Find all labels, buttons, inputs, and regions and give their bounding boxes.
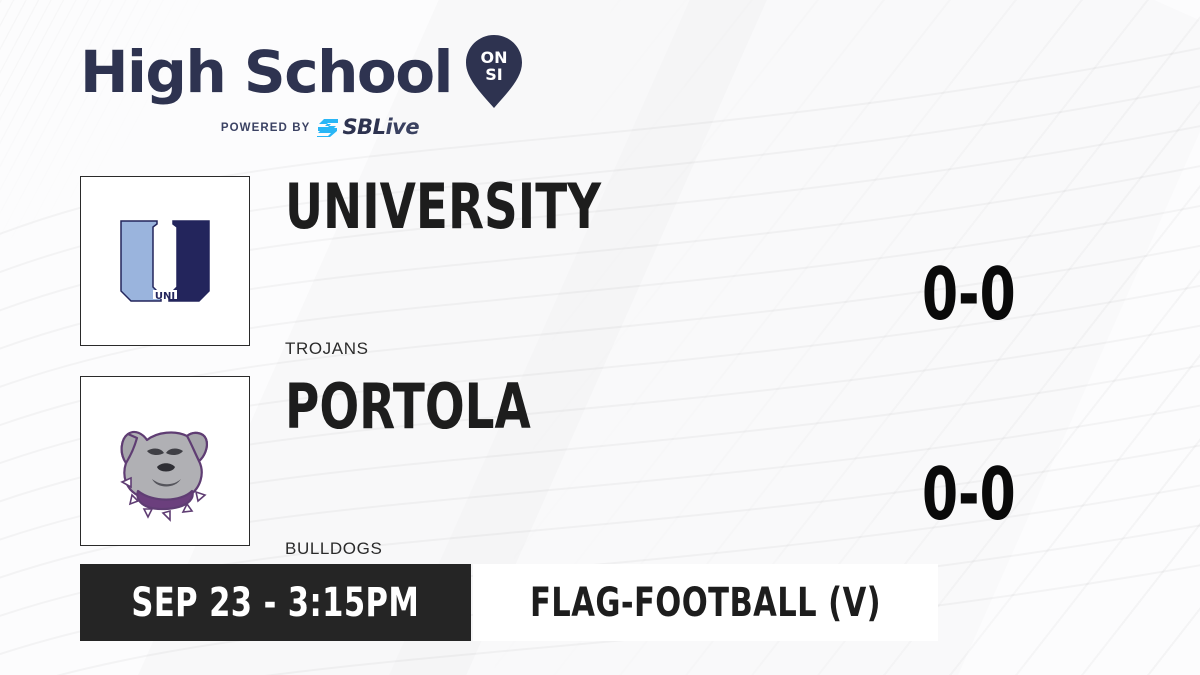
game-datetime-panel: SEP 23 - 3:15PM <box>80 564 471 641</box>
powered-by-row: POWERED BY SBLive <box>80 117 524 138</box>
game-sport: FLAG-FOOTBALL (V) <box>530 583 881 623</box>
team-mascot-trojans: TROJANS <box>285 339 369 359</box>
team-name-university: UNIVERSITY <box>285 176 601 238</box>
sblive-main: SBL <box>342 115 385 139</box>
sblive-suffix: ive <box>385 115 419 139</box>
team-mascot-bulldogs: BULLDOGS <box>285 539 382 559</box>
team-record-university: 0-0 <box>922 258 1016 330</box>
game-datetime: SEP 23 - 3:15PM <box>131 583 419 623</box>
brand-header: High School ON SI POWERED BY SBLive <box>80 34 524 138</box>
game-sport-panel: FLAG-FOOTBALL (V) <box>473 564 938 641</box>
university-logo-subtext: UNI <box>155 291 175 302</box>
brand-row: High School ON SI <box>80 34 524 110</box>
sblive-wordmark: SBLive <box>342 117 419 138</box>
university-u-logo-icon: UNI <box>95 191 235 331</box>
team-record-portola: 0-0 <box>922 458 1016 530</box>
brand-title: High School <box>80 43 452 101</box>
team-name-portola: PORTOLA <box>285 376 531 438</box>
powered-by-label: POWERED BY <box>221 122 311 134</box>
team-logo-university: UNI <box>80 176 250 346</box>
game-info-bar: SEP 23 - 3:15PM FLAG-FOOTBALL (V) <box>80 564 938 641</box>
team-logo-portola <box>80 376 250 546</box>
portola-bulldog-logo-icon <box>95 391 235 531</box>
sblive-mark-icon <box>317 118 339 137</box>
sblive-logo: SBLive <box>317 117 419 138</box>
on-si-pin-icon: ON SI <box>464 34 524 110</box>
pin-text-si: SI <box>485 65 502 84</box>
